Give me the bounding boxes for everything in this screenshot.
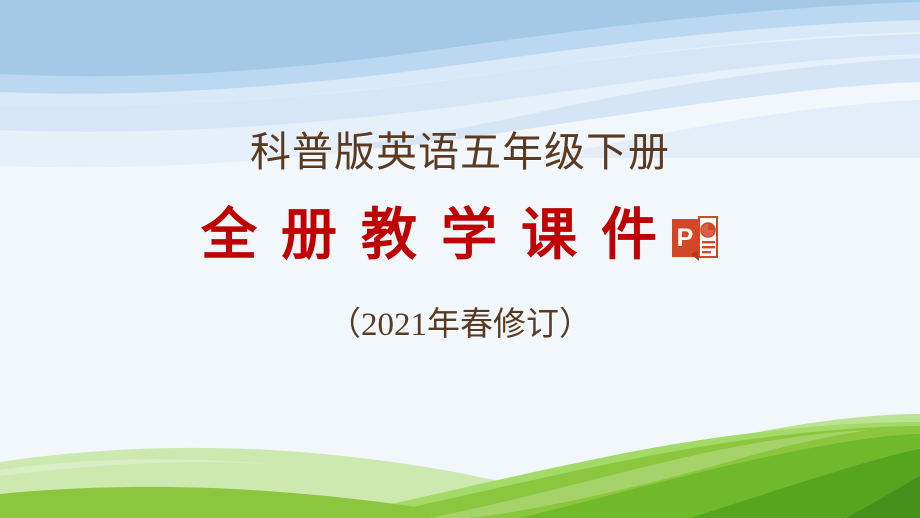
powerpoint-icon: P [671, 214, 719, 262]
slide-content: 科普版英语五年级下册 全册教学课件 P [0, 0, 920, 518]
revision-line: （2021年春修订） [0, 306, 920, 346]
presentation-slide: 科普版英语五年级下册 全册教学课件 P [0, 0, 920, 518]
svg-text:P: P [677, 224, 694, 252]
page-title: 全册教学课件 [201, 208, 681, 264]
main-title-row: 全册教学课件 P [0, 208, 920, 264]
subject-line: 科普版英语五年级下册 [0, 128, 920, 176]
